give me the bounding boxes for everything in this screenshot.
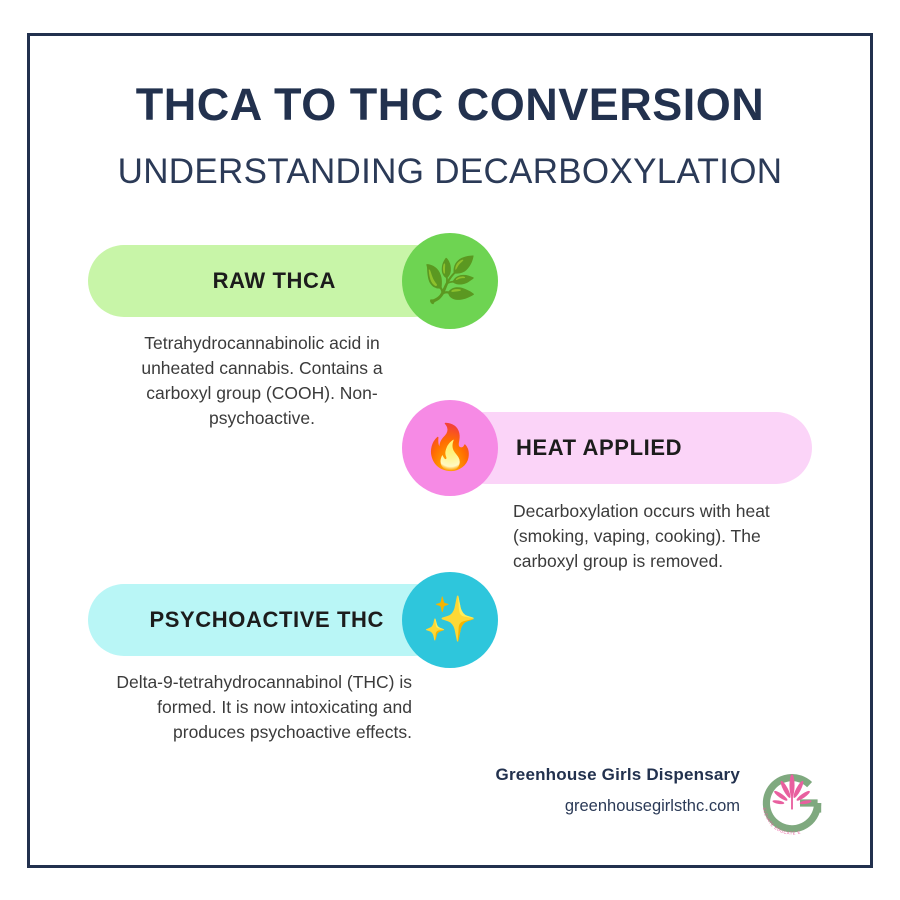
brand-name: Greenhouse Girls Dispensary bbox=[430, 765, 740, 785]
sparkles-icon: ✨ bbox=[423, 598, 478, 642]
step-icon-circle-raw-thca: 🌿 bbox=[402, 233, 498, 329]
step-description-psychoactive-thc: Delta-9-tetrahydrocannabinol (THC) is fo… bbox=[112, 670, 412, 745]
brand-website[interactable]: greenhousegirlsthc.com bbox=[430, 797, 740, 816]
step-description-raw-thca: Tetrahydrocannabinolic acid in unheated … bbox=[112, 331, 412, 430]
step-label-raw-thca: RAW THCA bbox=[213, 268, 336, 294]
fire-icon: 🔥 bbox=[423, 426, 478, 470]
step-icon-circle-heat-applied: 🔥 bbox=[402, 400, 498, 496]
page-title: THCA TO THC CONVERSION bbox=[0, 79, 900, 131]
step-pill-raw-thca: RAW THCA bbox=[88, 245, 450, 317]
step-pill-psychoactive-thc: PSYCHOACTIVE THC bbox=[88, 584, 450, 656]
infographic-poster: THCA TO THC CONVERSION UNDERSTANDING DEC… bbox=[0, 0, 900, 900]
brand-logo: ELEVATE EDUCATE EMPOWER bbox=[752, 763, 832, 843]
footer-text-block: Greenhouse Girls Dispensary greenhousegi… bbox=[430, 765, 740, 816]
step-pill-heat-applied: HEAT APPLIED bbox=[450, 412, 812, 484]
step-label-psychoactive-thc: PSYCHOACTIVE THC bbox=[149, 607, 384, 633]
footer-branding: Greenhouse Girls Dispensary greenhousegi… bbox=[430, 765, 830, 845]
page-subtitle: UNDERSTANDING DECARBOXYLATION bbox=[0, 152, 900, 192]
step-label-heat-applied: HEAT APPLIED bbox=[516, 435, 682, 461]
step-description-heat-applied: Decarboxylation occurs with heat (smokin… bbox=[513, 499, 813, 574]
herb-leaf-icon: 🌿 bbox=[423, 259, 478, 303]
step-icon-circle-psychoactive-thc: ✨ bbox=[402, 572, 498, 668]
